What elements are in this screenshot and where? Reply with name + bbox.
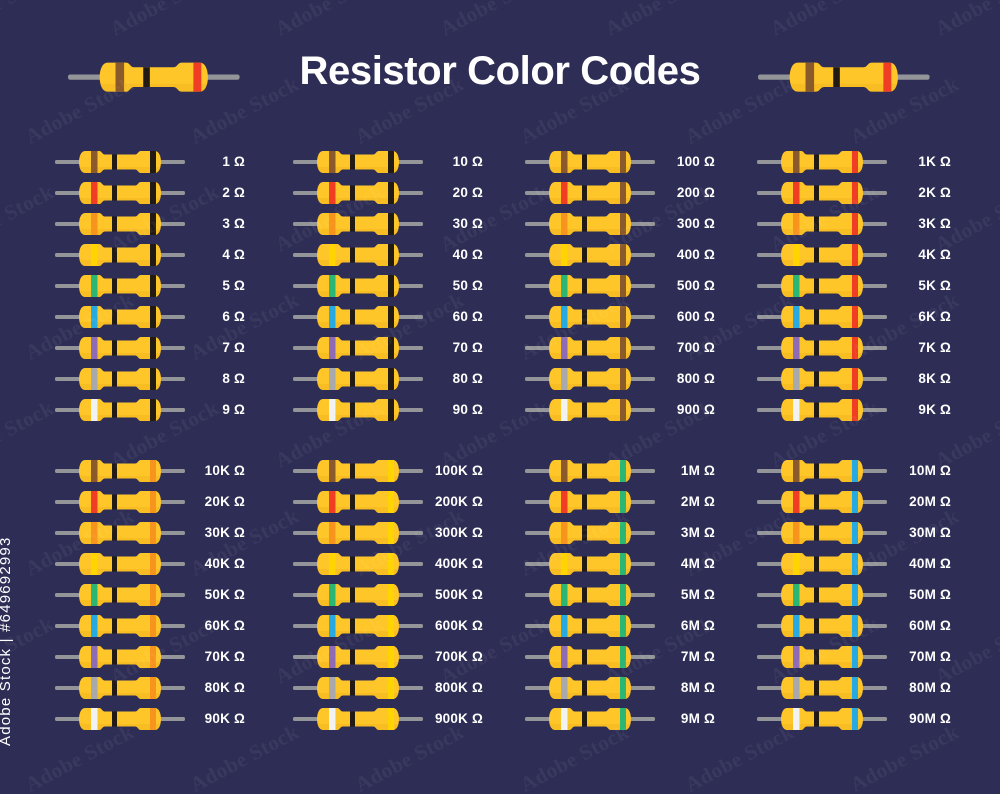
resistance-value-label: 30M Ω: [885, 517, 951, 548]
resistance-value-label: 100 Ω: [653, 146, 715, 177]
resistance-value-label: 4K Ω: [885, 239, 951, 270]
resistor-row[interactable]: 60 Ω: [293, 301, 483, 332]
resistor-row[interactable]: 80 Ω: [293, 363, 483, 394]
resistor-icon: [55, 582, 185, 608]
resistor-row[interactable]: 40 Ω: [293, 239, 483, 270]
resistance-value-label: 40M Ω: [885, 548, 951, 579]
resistor-row[interactable]: 800K Ω: [293, 672, 483, 703]
resistor-row[interactable]: 7K Ω: [757, 332, 947, 363]
resistor-icon: [525, 304, 655, 330]
resistor-icon: [293, 397, 423, 423]
resistance-value-label: 700 Ω: [653, 332, 715, 363]
resistance-value-label: 2K Ω: [885, 177, 951, 208]
resistor-icon: [525, 180, 655, 206]
resistor-icon: [293, 489, 423, 515]
resistor-icon: [525, 551, 655, 577]
resistance-value-label: 30 Ω: [421, 208, 483, 239]
resistance-value-label: 80 Ω: [421, 363, 483, 394]
resistance-value-label: 60K Ω: [183, 610, 245, 641]
resistor-icon: [757, 366, 887, 392]
resistor-icon: [55, 335, 185, 361]
resistor-row[interactable]: 3M Ω: [525, 517, 715, 548]
resistor-icon: [757, 520, 887, 546]
column-tens-kilohms: 10K Ω20K Ω30K Ω40K Ω50K Ω60K Ω70K Ω80K Ω…: [55, 455, 245, 734]
resistance-value-label: 4 Ω: [183, 239, 245, 270]
resistor-icon: [757, 242, 887, 268]
resistor-icon: [293, 335, 423, 361]
resistance-value-label: 1 Ω: [183, 146, 245, 177]
resistor-icon: [525, 211, 655, 237]
resistor-icon: [293, 706, 423, 732]
resistor-icon: [757, 335, 887, 361]
column-megohms: 1M Ω2M Ω3M Ω4M Ω5M Ω6M Ω7M Ω8M Ω9M Ω: [525, 455, 715, 734]
resistor-row[interactable]: 2 Ω: [55, 177, 245, 208]
resistor-icon: [525, 242, 655, 268]
resistor-icon: [525, 675, 655, 701]
resistor-row[interactable]: 6M Ω: [525, 610, 715, 641]
resistor-row[interactable]: 200 Ω: [525, 177, 715, 208]
resistor-row[interactable]: 1K Ω: [757, 146, 947, 177]
resistor-row[interactable]: 90 Ω: [293, 394, 483, 425]
resistor-row[interactable]: 600K Ω: [293, 610, 483, 641]
resistance-value-label: 60M Ω: [885, 610, 951, 641]
resistance-value-label: 70 Ω: [421, 332, 483, 363]
resistor-icon: [525, 489, 655, 515]
resistor-row[interactable]: 80K Ω: [55, 672, 245, 703]
resistor-row[interactable]: 9 Ω: [55, 394, 245, 425]
resistor-icon: [55, 551, 185, 577]
resistor-row[interactable]: 50 Ω: [293, 270, 483, 301]
column-kilohms: 1K Ω2K Ω3K Ω4K Ω5K Ω6K Ω7K Ω8K Ω9K Ω: [757, 146, 947, 425]
resistance-value-label: 5 Ω: [183, 270, 245, 301]
resistor-row[interactable]: 20M Ω: [757, 486, 947, 517]
resistor-row[interactable]: 100 Ω: [525, 146, 715, 177]
resistor-icon: [757, 613, 887, 639]
resistance-value-label: 40K Ω: [183, 548, 245, 579]
column-ohms: 1 Ω2 Ω3 Ω4 Ω5 Ω6 Ω7 Ω8 Ω9 Ω: [55, 146, 245, 425]
resistance-value-label: 60 Ω: [421, 301, 483, 332]
resistor-icon: [757, 489, 887, 515]
resistor-icon: [55, 397, 185, 423]
resistor-row[interactable]: 6 Ω: [55, 301, 245, 332]
resistor-icon: [293, 273, 423, 299]
resistor-row[interactable]: 300 Ω: [525, 208, 715, 239]
resistance-value-label: 9K Ω: [885, 394, 951, 425]
resistance-value-label: 70M Ω: [885, 641, 951, 672]
column-hundreds-ohms: 100 Ω200 Ω300 Ω400 Ω500 Ω600 Ω700 Ω800 Ω…: [525, 146, 715, 425]
resistance-value-label: 700K Ω: [421, 641, 483, 672]
resistor-icon: [293, 551, 423, 577]
resistor-icon: [293, 613, 423, 639]
resistor-row[interactable]: 9M Ω: [525, 703, 715, 734]
resistance-value-label: 200K Ω: [421, 486, 483, 517]
resistor-icon: [757, 551, 887, 577]
resistor-icon: [525, 644, 655, 670]
resistor-row[interactable]: 50M Ω: [757, 579, 947, 610]
resistor-row[interactable]: 700K Ω: [293, 641, 483, 672]
resistor-row[interactable]: 6K Ω: [757, 301, 947, 332]
column-tens-ohms: 10 Ω20 Ω30 Ω40 Ω50 Ω60 Ω70 Ω80 Ω90 Ω: [293, 146, 483, 425]
resistor-row[interactable]: 900K Ω: [293, 703, 483, 734]
resistance-value-label: 2 Ω: [183, 177, 245, 208]
resistor-icon: [525, 366, 655, 392]
resistor-row[interactable]: 400 Ω: [525, 239, 715, 270]
resistor-row[interactable]: 400K Ω: [293, 548, 483, 579]
resistor-icon: [55, 242, 185, 268]
resistance-value-label: 3 Ω: [183, 208, 245, 239]
resistor-row[interactable]: 70 Ω: [293, 332, 483, 363]
resistance-value-label: 8M Ω: [653, 672, 715, 703]
column-hundreds-kilohms: 100K Ω200K Ω300K Ω400K Ω500K Ω600K Ω700K…: [293, 455, 483, 734]
resistor-row[interactable]: 30K Ω: [55, 517, 245, 548]
resistance-value-label: 6 Ω: [183, 301, 245, 332]
resistor-row[interactable]: 30 Ω: [293, 208, 483, 239]
resistor-row[interactable]: 50K Ω: [55, 579, 245, 610]
resistance-value-label: 3K Ω: [885, 208, 951, 239]
resistance-value-label: 500K Ω: [421, 579, 483, 610]
resistor-row[interactable]: 500K Ω: [293, 579, 483, 610]
resistance-value-label: 5M Ω: [653, 579, 715, 610]
resistance-value-label: 1K Ω: [885, 146, 951, 177]
resistance-value-label: 70K Ω: [183, 641, 245, 672]
resistor-row[interactable]: 90M Ω: [757, 703, 947, 734]
resistor-icon: [525, 335, 655, 361]
resistor-row[interactable]: 1M Ω: [525, 455, 715, 486]
resistor-row[interactable]: 300K Ω: [293, 517, 483, 548]
resistance-value-label: 400K Ω: [421, 548, 483, 579]
resistor-row[interactable]: 5M Ω: [525, 579, 715, 610]
resistance-value-label: 100K Ω: [421, 455, 483, 486]
resistance-value-label: 7K Ω: [885, 332, 951, 363]
resistance-value-label: 50M Ω: [885, 579, 951, 610]
resistor-row[interactable]: 10 Ω: [293, 146, 483, 177]
resistor-icon: [293, 458, 423, 484]
resistor-icon: [757, 304, 887, 330]
resistance-value-label: 9 Ω: [183, 394, 245, 425]
resistance-value-label: 6K Ω: [885, 301, 951, 332]
resistor-icon: [757, 211, 887, 237]
resistance-value-label: 90K Ω: [183, 703, 245, 734]
resistor-row[interactable]: 40K Ω: [55, 548, 245, 579]
resistor-row[interactable]: 8 Ω: [55, 363, 245, 394]
resistor-icon: [757, 706, 887, 732]
resistance-value-label: 10M Ω: [885, 455, 951, 486]
resistance-value-label: 7M Ω: [653, 641, 715, 672]
resistance-value-label: 8K Ω: [885, 363, 951, 394]
resistor-row[interactable]: 2M Ω: [525, 486, 715, 517]
resistor-icon: [757, 180, 887, 206]
resistor-icon: [55, 149, 185, 175]
resistance-value-label: 10 Ω: [421, 146, 483, 177]
resistor-icon: [757, 458, 887, 484]
attribution-watermark: Adobe Stock | #649692993: [0, 536, 14, 746]
resistor-icon: [757, 644, 887, 670]
resistor-icon: [525, 582, 655, 608]
resistance-value-label: 400 Ω: [653, 239, 715, 270]
resistance-value-label: 7 Ω: [183, 332, 245, 363]
resistor-row[interactable]: 20K Ω: [55, 486, 245, 517]
resistor-icon: [293, 520, 423, 546]
resistor-icon: [293, 304, 423, 330]
resistance-value-label: 5K Ω: [885, 270, 951, 301]
resistor-row[interactable]: 9K Ω: [757, 394, 947, 425]
resistance-value-label: 900K Ω: [421, 703, 483, 734]
resistor-icon: [525, 273, 655, 299]
resistance-value-label: 20 Ω: [421, 177, 483, 208]
resistor-row[interactable]: 5 Ω: [55, 270, 245, 301]
resistance-value-label: 300 Ω: [653, 208, 715, 239]
resistor-icon: [55, 613, 185, 639]
resistor-row[interactable]: 4 Ω: [55, 239, 245, 270]
resistance-value-label: 2M Ω: [653, 486, 715, 517]
resistance-value-label: 900 Ω: [653, 394, 715, 425]
resistance-value-label: 30K Ω: [183, 517, 245, 548]
resistor-row[interactable]: 200K Ω: [293, 486, 483, 517]
resistance-value-label: 10K Ω: [183, 455, 245, 486]
resistor-icon: [525, 613, 655, 639]
resistor-row[interactable]: 70K Ω: [55, 641, 245, 672]
resistance-value-label: 80M Ω: [885, 672, 951, 703]
resistor-row[interactable]: 40M Ω: [757, 548, 947, 579]
resistance-value-label: 600 Ω: [653, 301, 715, 332]
resistor-row[interactable]: 800 Ω: [525, 363, 715, 394]
page-title: Resistor Color Codes: [0, 49, 1000, 94]
resistance-value-label: 4M Ω: [653, 548, 715, 579]
resistor-icon: [293, 675, 423, 701]
resistor-row[interactable]: 1 Ω: [55, 146, 245, 177]
resistor-icon: [55, 489, 185, 515]
resistor-icon: [293, 366, 423, 392]
resistor-icon: [55, 180, 185, 206]
resistance-value-label: 600K Ω: [421, 610, 483, 641]
resistance-value-label: 90M Ω: [885, 703, 951, 734]
resistor-row[interactable]: 5K Ω: [757, 270, 947, 301]
resistance-value-label: 90 Ω: [421, 394, 483, 425]
resistor-row[interactable]: 8K Ω: [757, 363, 947, 394]
resistance-value-label: 3M Ω: [653, 517, 715, 548]
resistor-row[interactable]: 90K Ω: [55, 703, 245, 734]
resistor-icon: [525, 149, 655, 175]
resistor-icon: [525, 458, 655, 484]
resistance-value-label: 40 Ω: [421, 239, 483, 270]
resistor-icon: [757, 149, 887, 175]
resistor-grid: 1 Ω2 Ω3 Ω4 Ω5 Ω6 Ω7 Ω8 Ω9 Ω10 Ω20 Ω30 Ω4…: [0, 0, 1000, 794]
resistor-row[interactable]: 7 Ω: [55, 332, 245, 363]
resistance-value-label: 50K Ω: [183, 579, 245, 610]
resistor-row[interactable]: 4M Ω: [525, 548, 715, 579]
resistance-value-label: 800K Ω: [421, 672, 483, 703]
resistor-row[interactable]: 600 Ω: [525, 301, 715, 332]
resistor-row[interactable]: 3K Ω: [757, 208, 947, 239]
resistor-row[interactable]: 30M Ω: [757, 517, 947, 548]
resistor-row[interactable]: 900 Ω: [525, 394, 715, 425]
resistor-row[interactable]: 10K Ω: [55, 455, 245, 486]
resistor-row[interactable]: 700 Ω: [525, 332, 715, 363]
resistance-value-label: 50 Ω: [421, 270, 483, 301]
resistance-value-label: 8 Ω: [183, 363, 245, 394]
resistor-icon: [55, 706, 185, 732]
resistor-icon: [55, 273, 185, 299]
resistor-icon: [55, 366, 185, 392]
resistor-row[interactable]: 8M Ω: [525, 672, 715, 703]
resistor-icon: [757, 397, 887, 423]
resistor-icon: [55, 458, 185, 484]
resistor-row[interactable]: 70M Ω: [757, 641, 947, 672]
resistor-icon: [55, 644, 185, 670]
resistance-value-label: 300K Ω: [421, 517, 483, 548]
resistance-value-label: 500 Ω: [653, 270, 715, 301]
resistor-icon: [293, 211, 423, 237]
resistor-row[interactable]: 7M Ω: [525, 641, 715, 672]
resistor-icon: [55, 520, 185, 546]
resistor-row[interactable]: 3 Ω: [55, 208, 245, 239]
resistor-icon: [293, 180, 423, 206]
resistance-value-label: 6M Ω: [653, 610, 715, 641]
resistance-value-label: 800 Ω: [653, 363, 715, 394]
resistor-row[interactable]: 80M Ω: [757, 672, 947, 703]
resistor-row[interactable]: 60K Ω: [55, 610, 245, 641]
resistor-row[interactable]: 60M Ω: [757, 610, 947, 641]
resistor-icon: [757, 675, 887, 701]
resistance-value-label: 9M Ω: [653, 703, 715, 734]
resistor-row[interactable]: 10M Ω: [757, 455, 947, 486]
resistor-icon: [293, 644, 423, 670]
resistor-icon: [525, 706, 655, 732]
resistor-icon: [525, 520, 655, 546]
resistor-icon: [757, 582, 887, 608]
resistor-icon: [293, 242, 423, 268]
resistance-value-label: 1M Ω: [653, 455, 715, 486]
resistor-icon: [293, 149, 423, 175]
resistor-icon: [55, 304, 185, 330]
resistor-row[interactable]: 4K Ω: [757, 239, 947, 270]
resistance-value-label: 80K Ω: [183, 672, 245, 703]
resistance-value-label: 200 Ω: [653, 177, 715, 208]
resistance-value-label: 20M Ω: [885, 486, 951, 517]
resistor-icon: [55, 211, 185, 237]
column-tens-megohms: 10M Ω20M Ω30M Ω40M Ω50M Ω60M Ω70M Ω80M Ω…: [757, 455, 947, 734]
resistor-row[interactable]: 20 Ω: [293, 177, 483, 208]
resistor-row[interactable]: 100K Ω: [293, 455, 483, 486]
resistor-row[interactable]: 2K Ω: [757, 177, 947, 208]
resistor-icon: [525, 397, 655, 423]
resistor-icon: [293, 582, 423, 608]
resistance-value-label: 20K Ω: [183, 486, 245, 517]
resistor-row[interactable]: 500 Ω: [525, 270, 715, 301]
resistor-icon: [55, 675, 185, 701]
resistor-icon: [757, 273, 887, 299]
